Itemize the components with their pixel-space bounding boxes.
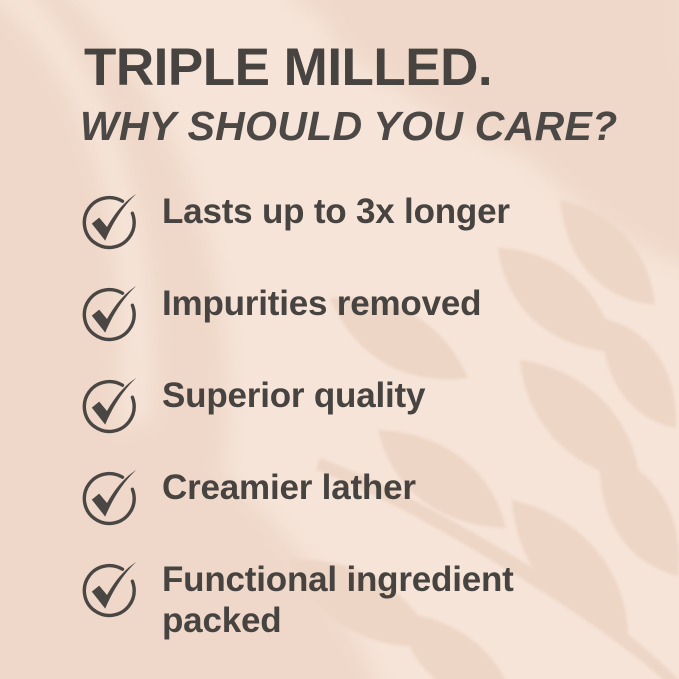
list-item-label: Impurities removed bbox=[162, 284, 592, 325]
page-title: TRIPLE MILLED. bbox=[84, 41, 492, 94]
list-item-label: Lasts up to 3x longer bbox=[162, 192, 592, 233]
content-layer: TRIPLE MILLED. WHY SHOULD YOU CARE? Last… bbox=[0, 0, 679, 679]
check-circle-icon bbox=[72, 188, 144, 260]
list-item: Functional ingredient packed bbox=[0, 554, 679, 646]
list-item-label: Creamier lather bbox=[162, 468, 592, 509]
list-item-label: Superior quality bbox=[162, 376, 592, 417]
check-circle-icon bbox=[72, 556, 144, 628]
list-item: Impurities removed bbox=[0, 278, 679, 370]
benefit-list: Lasts up to 3x longer Impurities removed bbox=[0, 186, 679, 646]
check-circle-icon bbox=[72, 280, 144, 352]
list-item: Creamier lather bbox=[0, 462, 679, 554]
check-circle-icon bbox=[72, 464, 144, 536]
list-item: Superior quality bbox=[0, 370, 679, 462]
list-item: Lasts up to 3x longer bbox=[0, 186, 679, 278]
page-subtitle: WHY SHOULD YOU CARE? bbox=[80, 106, 618, 147]
check-circle-icon bbox=[72, 372, 144, 444]
triple-milled-infographic: TRIPLE MILLED. WHY SHOULD YOU CARE? Last… bbox=[0, 0, 679, 679]
list-item-label: Functional ingredient packed bbox=[162, 560, 592, 641]
